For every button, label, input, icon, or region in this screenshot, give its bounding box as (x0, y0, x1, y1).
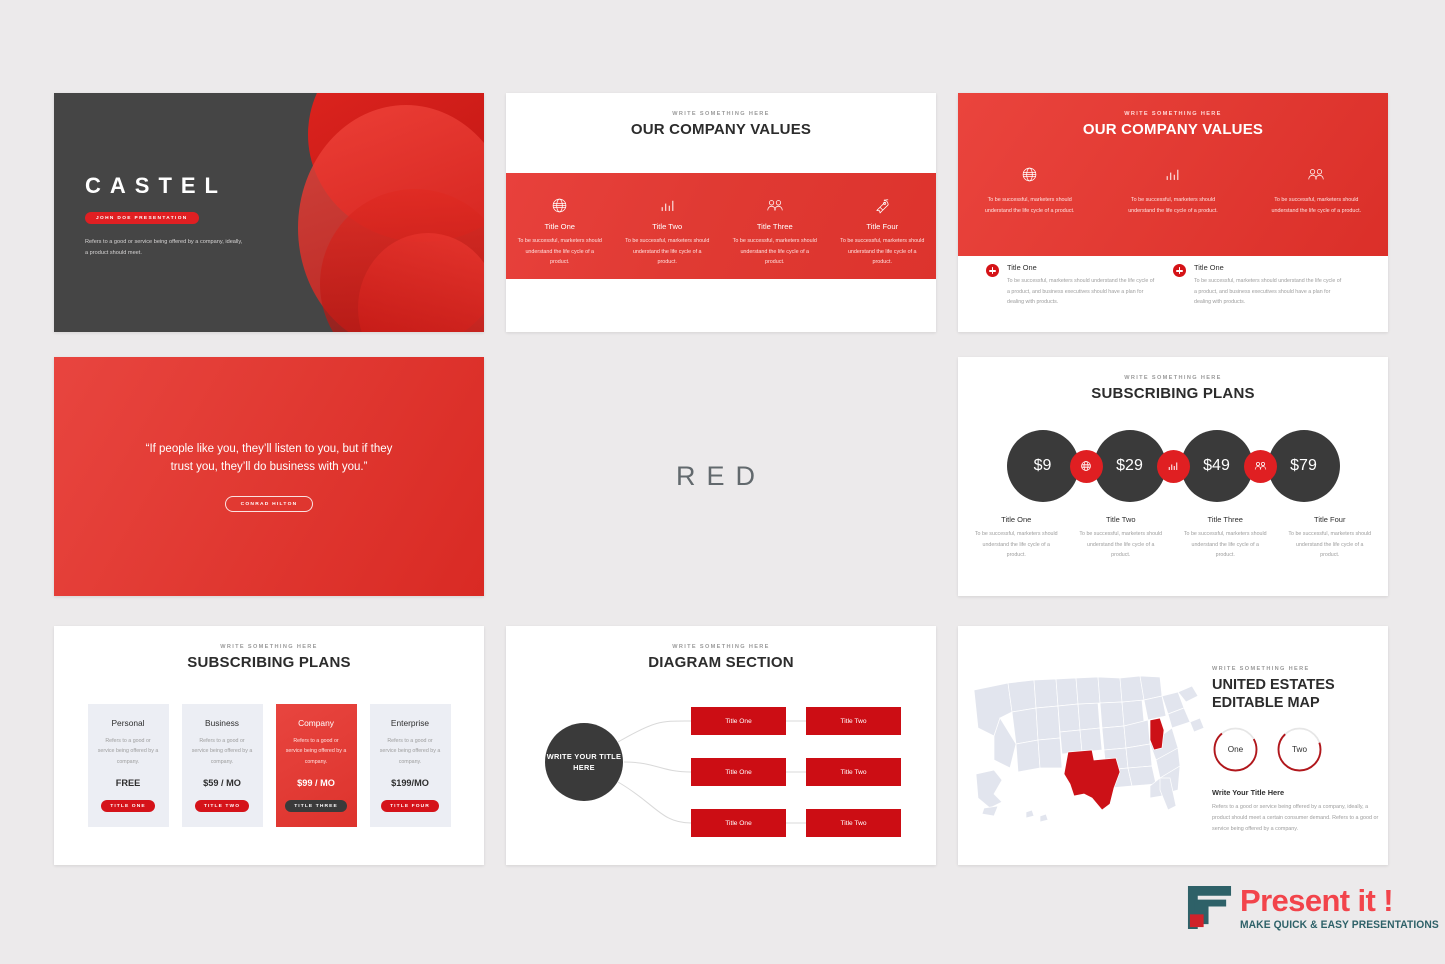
diagram-box-row3-left[interactable]: Title One (691, 809, 786, 837)
card-name-3: Company (285, 718, 348, 728)
map-sub-title: Write Your Title Here (1212, 788, 1380, 797)
bullet-1-text: Title One To be successful, marketers sh… (1007, 263, 1155, 308)
slide2-header: WRITE SOMETHING HERE OUR COMPANY VALUES (506, 93, 936, 138)
users-icon (1261, 162, 1372, 186)
donut-two-label: Two (1276, 726, 1323, 773)
slide-subscribing-plans-circles[interactable]: WRITE SOMETHING HERE SUBSCRIBING PLANS $… (958, 357, 1388, 596)
circle-label-3: Title Three To be successful, marketers … (1173, 515, 1278, 561)
slide5-title: SUBSCRIBING PLANS (958, 385, 1388, 402)
card-price-2: $59 / MO (191, 778, 254, 788)
value-column-2[interactable]: Title Two To be successful, marketers sh… (614, 173, 722, 279)
price-circle-4[interactable]: $79 (1268, 430, 1340, 502)
slide6-title: SUBSCRIBING PLANS (54, 654, 484, 671)
bullet-title-1: Title One (1007, 263, 1155, 272)
diagram-box-row1-right[interactable]: Title Two (806, 707, 901, 735)
slide3-red-panel: WRITE SOMETHING HERE OUR COMPANY VALUES … (958, 93, 1388, 256)
section-word-red: RED (506, 357, 936, 596)
logo-wordmark: Present it ! (1240, 885, 1445, 916)
slide3-title: OUR COMPANY VALUES (958, 121, 1388, 138)
card-desc-3: Refers to a good or service being offere… (285, 736, 348, 767)
circle-desc-1: To be successful, marketers should under… (974, 529, 1059, 561)
bullet-desc-2: To be successful, marketers should under… (1194, 276, 1342, 308)
circle-title-3: Title Three (1183, 515, 1268, 524)
card-desc-2: Refers to a good or service being offere… (191, 736, 254, 767)
value-title-1: Title One (515, 222, 605, 231)
slide8-title: UNITED ESTATES EDITABLE MAP (1212, 676, 1380, 712)
circle-label-4: Title Four To be successful, marketers s… (1278, 515, 1383, 561)
slide-company-values-red[interactable]: WRITE SOMETHING HERE OUR COMPANY VALUES … (958, 93, 1388, 332)
slide6-eyebrow: WRITE SOMETHING HERE (54, 644, 484, 650)
slide8-title-line2: EDITABLE MAP (1212, 694, 1380, 712)
plus-icon (1173, 264, 1186, 277)
map-description: Refers to a good or service being offere… (1212, 802, 1380, 835)
card-price-1: FREE (97, 778, 160, 788)
circle-title-2: Title Two (1079, 515, 1164, 524)
slide6-header: WRITE SOMETHING HERE SUBSCRIBING PLANS (54, 626, 484, 671)
present-it-logo[interactable]: Present it ! MAKE QUICK & EASY PRESENTAT… (1186, 884, 1445, 931)
slide7-eyebrow: WRITE SOMETHING HERE (506, 644, 936, 650)
quote-text: “If people like you, they’ll listen to y… (135, 441, 403, 477)
slide-subscribing-plans-cards[interactable]: WRITE SOMETHING HERE SUBSCRIBING PLANS P… (54, 626, 484, 865)
bullet-item-2[interactable]: Title One To be successful, marketers sh… (1173, 263, 1360, 308)
price-circle-2[interactable]: $29 (1094, 430, 1166, 502)
cover-brand-title: CASTEL (85, 173, 245, 199)
diagram-box-row2-right[interactable]: Title Two (806, 758, 901, 786)
slide-cover[interactable]: CASTEL JOHN DOE PRESENTATION Refers to a… (54, 93, 484, 332)
red-value-desc-3: To be successful, marketers should under… (1261, 195, 1372, 217)
bullet-2-text: Title One To be successful, marketers sh… (1194, 263, 1342, 308)
card-name-1: Personal (97, 718, 160, 728)
bullet-desc-1: To be successful, marketers should under… (1007, 276, 1155, 308)
pricing-card-enterprise[interactable]: Enterprise Refers to a good or service b… (370, 704, 451, 827)
card-name-2: Business (191, 718, 254, 728)
slide2-red-band: Title One To be successful, marketers sh… (506, 173, 936, 279)
globe-icon (974, 162, 1085, 186)
state-indiana (1150, 718, 1164, 750)
state-texas (1064, 750, 1120, 810)
card-desc-4: Refers to a good or service being offere… (379, 736, 442, 767)
slide3-columns: To be successful, marketers should under… (958, 162, 1388, 217)
bar-chart-icon (1117, 162, 1228, 186)
diagram-box-row3-right[interactable]: Title Two (806, 809, 901, 837)
value-column-4[interactable]: Title Four To be successful, marketers s… (829, 173, 937, 279)
card-desc-1: Refers to a good or service being offere… (97, 736, 160, 767)
bullet-title-2: Title One (1194, 263, 1342, 272)
pricing-card-business[interactable]: Business Refers to a good or service bei… (182, 704, 263, 827)
slide2-eyebrow: WRITE SOMETHING HERE (506, 111, 936, 117)
diagram-hub-circle[interactable]: WRITE YOUR TITLE HERE (545, 723, 623, 801)
card-button-4[interactable]: TITLE FOUR (381, 800, 439, 812)
pricing-card-row: Personal Refers to a good or service bei… (54, 704, 484, 827)
quote-author-badge: CONRAD HILTON (225, 496, 314, 512)
circle-desc-2: To be successful, marketers should under… (1079, 529, 1164, 561)
cover-subtitle-pill: JOHN DOE PRESENTATION (85, 212, 199, 224)
users-icon (1244, 450, 1277, 483)
slide8-eyebrow: WRITE SOMETHING HERE (1212, 666, 1380, 672)
red-value-desc-2: To be successful, marketers should under… (1117, 195, 1228, 217)
circle-desc-3: To be successful, marketers should under… (1183, 529, 1268, 561)
slide5-header: WRITE SOMETHING HERE SUBSCRIBING PLANS (958, 357, 1388, 402)
card-price-3: $99 / MO (285, 778, 348, 788)
donut-chart-two[interactable]: Two (1276, 726, 1323, 773)
circle-label-1: Title One To be successful, marketers sh… (964, 515, 1069, 561)
circle-title-1: Title One (974, 515, 1059, 524)
cover-description: Refers to a good or service being offere… (85, 237, 245, 259)
value-desc-3: To be successful, marketers should under… (730, 236, 820, 268)
red-value-column-3[interactable]: To be successful, marketers should under… (1245, 162, 1388, 217)
corner-frame-icon (1186, 884, 1233, 931)
slide7-title: DIAGRAM SECTION (506, 654, 936, 671)
value-column-1[interactable]: Title One To be successful, marketers sh… (506, 173, 614, 279)
plus-icon (986, 264, 999, 277)
red-value-desc-1: To be successful, marketers should under… (974, 195, 1085, 217)
price-circle-row: $9 $29 $49 (958, 430, 1388, 502)
donut-chart-one[interactable]: One (1212, 726, 1259, 773)
usa-map[interactable] (964, 656, 1204, 836)
cover-text-block: CASTEL JOHN DOE PRESENTATION Refers to a… (85, 173, 245, 259)
value-column-3[interactable]: Title Three To be successful, marketers … (721, 173, 829, 279)
value-desc-4: To be successful, marketers should under… (838, 236, 928, 268)
map-side-panel: WRITE SOMETHING HERE UNITED ESTATES EDIT… (1212, 666, 1380, 835)
pricing-card-personal[interactable]: Personal Refers to a good or service bei… (88, 704, 169, 827)
card-name-4: Enterprise (379, 718, 442, 728)
value-desc-1: To be successful, marketers should under… (515, 236, 605, 268)
globe-icon (1070, 450, 1103, 483)
price-circle-3[interactable]: $49 (1181, 430, 1253, 502)
red-value-column-1[interactable]: To be successful, marketers should under… (958, 162, 1101, 217)
slide5-eyebrow: WRITE SOMETHING HERE (958, 375, 1388, 381)
value-title-3: Title Three (730, 222, 820, 231)
card-button-3[interactable]: TITLE THREE (285, 800, 347, 812)
circle-label-2: Title Two To be successful, marketers sh… (1069, 515, 1174, 561)
slide3-header: WRITE SOMETHING HERE OUR COMPANY VALUES (958, 93, 1388, 138)
slide7-header: WRITE SOMETHING HERE DIAGRAM SECTION (506, 626, 936, 671)
value-title-2: Title Two (623, 222, 713, 231)
slide2-title: OUR COMPANY VALUES (506, 121, 936, 138)
globe-icon (515, 193, 605, 217)
red-value-column-2[interactable]: To be successful, marketers should under… (1101, 162, 1244, 217)
presentation-template-board: CASTEL JOHN DOE PRESENTATION Refers to a… (0, 0, 1445, 964)
price-circle-labels: Title One To be successful, marketers sh… (964, 515, 1382, 561)
card-button-2[interactable]: TITLE TWO (195, 800, 249, 812)
bullet-item-1[interactable]: Title One To be successful, marketers sh… (986, 263, 1173, 308)
logo-text-block: Present it ! MAKE QUICK & EASY PRESENTAT… (1240, 884, 1445, 931)
slide-diagram-section[interactable]: WRITE SOMETHING HERE DIAGRAM SECTION WRI… (506, 626, 936, 865)
rocket-icon (838, 193, 928, 217)
slide3-bullet-list: Title One To be successful, marketers sh… (958, 263, 1388, 308)
slide8-title-line1: UNITED ESTATES (1212, 676, 1380, 694)
card-button-1[interactable]: TITLE ONE (101, 800, 154, 812)
slide3-eyebrow: WRITE SOMETHING HERE (958, 111, 1388, 117)
logo-tagline: MAKE QUICK & EASY PRESENTATIONS (1240, 919, 1439, 931)
price-circle-1[interactable]: $9 (1007, 430, 1079, 502)
usa-map-svg (964, 656, 1204, 836)
value-desc-2: To be successful, marketers should under… (623, 236, 713, 268)
donut-one-label: One (1212, 726, 1259, 773)
diagram-canvas: WRITE YOUR TITLE HERE Title One Title Tw… (506, 690, 936, 850)
donut-chart-row: One Two (1212, 726, 1380, 773)
circle-desc-4: To be successful, marketers should under… (1288, 529, 1373, 561)
circle-title-4: Title Four (1288, 515, 1373, 524)
slide-company-values-light[interactable]: WRITE SOMETHING HERE OUR COMPANY VALUES … (506, 93, 936, 332)
value-title-4: Title Four (838, 222, 928, 231)
pricing-card-company[interactable]: Company Refers to a good or service bein… (276, 704, 357, 827)
bar-chart-icon (623, 193, 713, 217)
slide-united-states-map[interactable]: WRITE SOMETHING HERE UNITED ESTATES EDIT… (958, 626, 1388, 865)
diagram-box-row2-left[interactable]: Title One (691, 758, 786, 786)
bar-chart-icon (1157, 450, 1190, 483)
diagram-box-row1-left[interactable]: Title One (691, 707, 786, 735)
users-icon (730, 193, 820, 217)
card-price-4: $199/MO (379, 778, 442, 788)
slide-quote[interactable]: “If people like you, they’ll listen to y… (54, 357, 484, 596)
